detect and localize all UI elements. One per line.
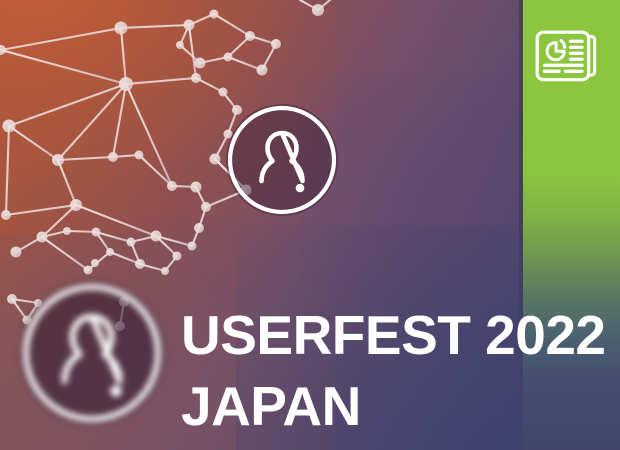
headline-line-2: JAPAN (181, 371, 611, 442)
user-avatar-icon-blurred (20, 281, 164, 425)
report-newspaper-icon (535, 26, 597, 86)
user-avatar-icon (226, 104, 338, 216)
headline-line-1: USERFEST 2022 (181, 300, 611, 371)
page-title: USERFEST 2022 JAPAN (181, 300, 611, 442)
event-banner: USERFEST 2022 JAPAN (0, 0, 620, 450)
